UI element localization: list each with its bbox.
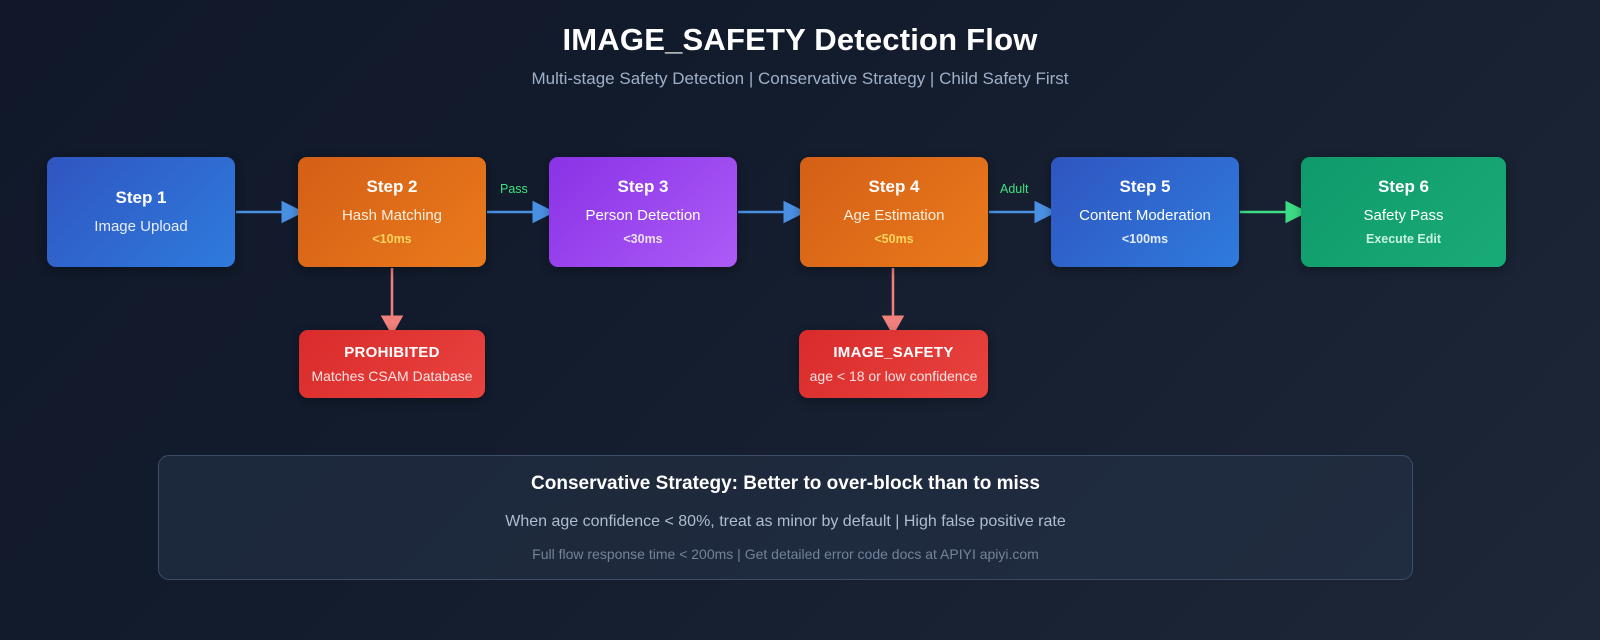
node-step-1[interactable]: Step 1 Image Upload [47, 157, 235, 267]
node-outcome-image-safety-subtitle: age < 18 or low confidence [810, 368, 978, 385]
node-step-6-action: Execute Edit [1366, 232, 1441, 247]
node-step-6-subtitle: Safety Pass [1363, 207, 1443, 225]
node-step-5-latency: <100ms [1122, 232, 1168, 247]
node-outcome-image-safety[interactable]: IMAGE_SAFETY age < 18 or low confidence [799, 330, 988, 398]
node-step-3-latency: <30ms [623, 232, 662, 247]
flow-nodes: Step 1 Image Upload Step 2 Hash Matching… [0, 0, 1600, 640]
page-header: IMAGE_SAFETY Detection Flow Multi-stage … [0, 0, 1600, 89]
node-step-5[interactable]: Step 5 Content Moderation <100ms [1051, 157, 1239, 267]
node-outcome-image-safety-title: IMAGE_SAFETY [833, 344, 953, 362]
node-outcome-prohibited-title: PROHIBITED [344, 344, 440, 362]
strategy-panel-note: Full flow response time < 200ms | Get de… [532, 546, 1039, 563]
node-step-6-title: Step 6 [1378, 177, 1429, 197]
node-step-1-subtitle: Image Upload [94, 218, 187, 236]
edge-label-pass: Pass [500, 182, 528, 196]
node-step-1-title: Step 1 [115, 188, 166, 208]
node-step-2-title: Step 2 [366, 177, 417, 197]
page-title: IMAGE_SAFETY Detection Flow [0, 20, 1600, 60]
strategy-panel-line: When age confidence < 80%, treat as mino… [505, 512, 1065, 531]
node-step-4-title: Step 4 [868, 177, 919, 197]
node-step-4-latency: <50ms [874, 232, 913, 247]
node-step-2-latency: <10ms [372, 232, 411, 247]
page-subtitle: Multi-stage Safety Detection | Conservat… [0, 69, 1600, 89]
edge-label-adult: Adult [1000, 182, 1029, 196]
node-step-4[interactable]: Step 4 Age Estimation <50ms [800, 157, 988, 267]
node-outcome-prohibited-subtitle: Matches CSAM Database [311, 368, 472, 385]
node-step-2[interactable]: Step 2 Hash Matching <10ms [298, 157, 486, 267]
node-step-3-subtitle: Person Detection [585, 207, 700, 225]
node-step-3[interactable]: Step 3 Person Detection <30ms [549, 157, 737, 267]
node-step-5-subtitle: Content Moderation [1079, 207, 1211, 225]
node-step-3-title: Step 3 [617, 177, 668, 197]
node-step-4-subtitle: Age Estimation [844, 207, 945, 225]
strategy-panel: Conservative Strategy: Better to over-bl… [158, 455, 1413, 580]
strategy-panel-title: Conservative Strategy: Better to over-bl… [531, 473, 1040, 496]
node-step-2-subtitle: Hash Matching [342, 207, 442, 225]
node-step-6[interactable]: Step 6 Safety Pass Execute Edit [1301, 157, 1506, 267]
node-step-5-title: Step 5 [1119, 177, 1170, 197]
node-outcome-prohibited[interactable]: PROHIBITED Matches CSAM Database [299, 330, 485, 398]
